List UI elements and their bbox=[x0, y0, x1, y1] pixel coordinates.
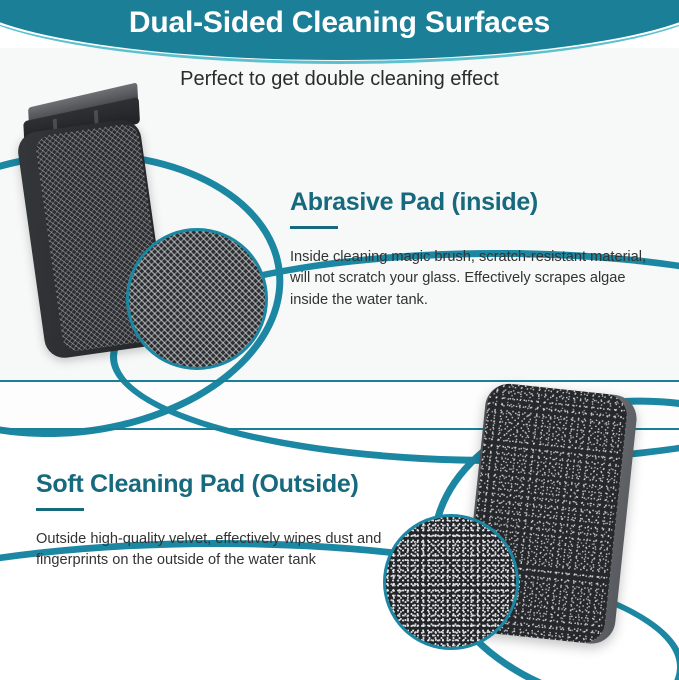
soft-pad-heading-underline bbox=[36, 508, 84, 511]
velvet-texture-magnifier bbox=[383, 514, 519, 650]
abrasive-pad-heading-underline bbox=[290, 226, 338, 229]
page-title: Dual-Sided Cleaning Surfaces bbox=[0, 6, 679, 40]
section-divider-upper bbox=[0, 380, 679, 382]
abrasive-pad-text-block: Abrasive Pad (inside) Inside cleaning ma… bbox=[290, 188, 660, 312]
infographic-page: Dual-Sided Cleaning Surfaces Perfect to … bbox=[0, 0, 679, 680]
abrasive-pad-description: Inside cleaning magic brush, scratch-res… bbox=[290, 247, 660, 312]
soft-pad-heading: Soft Cleaning Pad (Outside) bbox=[36, 470, 396, 499]
abrasive-pad-heading: Abrasive Pad (inside) bbox=[290, 188, 660, 217]
soft-pad-text-block: Soft Cleaning Pad (Outside) Outside high… bbox=[36, 470, 396, 572]
page-subtitle: Perfect to get double cleaning effect bbox=[0, 68, 679, 91]
abrasive-texture-magnifier bbox=[126, 228, 268, 370]
soft-pad-description: Outside high-quality velvet, effectively… bbox=[36, 529, 396, 572]
